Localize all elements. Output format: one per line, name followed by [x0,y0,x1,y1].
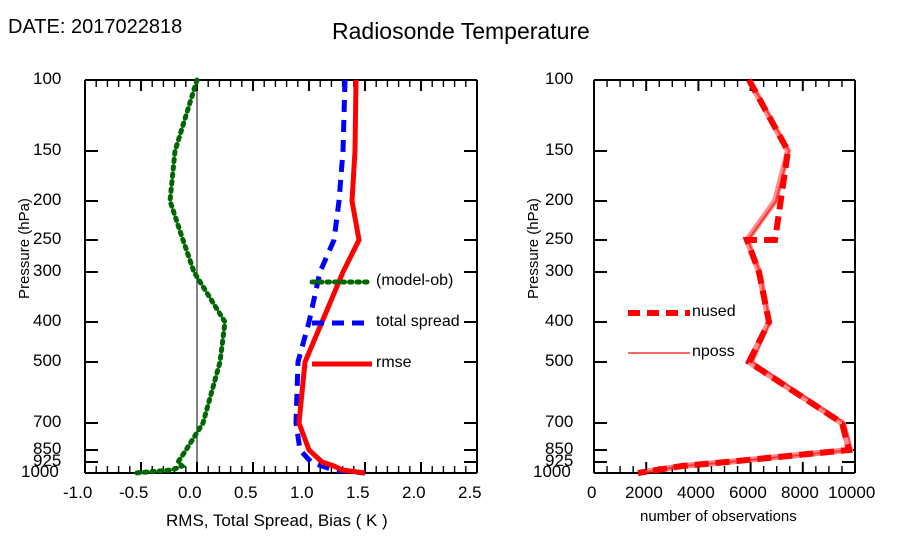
right-xaxis-title: number of observations [640,508,797,525]
left-xtick--0.5: -0.5 [119,483,148,503]
left-ytick-500: 500 [33,351,61,371]
left-ytick-700: 700 [33,412,61,432]
left-axis-title: Pressure (hPa) [16,198,33,299]
series-rmse [299,80,365,473]
right-panel [594,80,855,473]
legend-label-total-spread: total spread [376,313,460,331]
series-model-ob [135,80,225,473]
right-y-ticks [594,80,855,473]
legend-label-nused: nused [692,303,736,321]
right-xtick-6000: 6000 [729,483,767,503]
left-ytick-150: 150 [33,140,61,160]
right-xtick-8000: 8000 [781,483,819,503]
plot-canvas: DATE: 2017022818 Radiosonde Temperature [0,0,900,560]
legend-label-nposs: nposs [692,343,735,361]
left-panel-legend [312,282,372,364]
right-ytick-1000: 1000 [533,462,571,482]
left-xtick-2.0: 2.0 [402,483,426,503]
left-ytick-250: 250 [33,229,61,249]
right-ytick-100: 100 [545,69,573,89]
left-xtick-2.5: 2.5 [458,483,482,503]
series-nused-base [638,80,849,473]
right-ytick-200: 200 [545,190,573,210]
left-ytick-400: 400 [33,311,61,331]
series-nposs [638,80,852,473]
left-ytick-300: 300 [33,261,61,281]
right-ytick-300: 300 [545,261,573,281]
right-ytick-250: 250 [545,229,573,249]
left-xtick-1.0: 1.0 [290,483,314,503]
right-x-minor-ticks [607,80,842,473]
right-x-major-ticks [594,80,855,473]
right-axis-title: Pressure (hPa) [525,198,542,299]
legend-label-model-ob: (model-ob) [376,272,453,290]
right-ytick-700: 700 [545,412,573,432]
right-xtick-0: 0 [587,483,596,503]
left-ytick-100: 100 [33,69,61,89]
left-xtick-0.0: 0.0 [178,483,202,503]
right-ytick-500: 500 [545,351,573,371]
left-ytick-200: 200 [33,190,61,210]
right-panel-legend [628,313,690,353]
left-ytick-1000: 1000 [21,462,59,482]
right-xtick-4000: 4000 [677,483,715,503]
left-xtick-0.5: 0.5 [234,483,258,503]
right-ytick-150: 150 [545,140,573,160]
right-ytick-400: 400 [545,311,573,331]
left-xtick-1.5: 1.5 [346,483,370,503]
right-panel-frame [594,80,855,473]
legend-label-rmse: rmse [376,354,412,372]
left-xtick--1.0: -1.0 [63,483,92,503]
left-xaxis-title: RMS, Total Spread, Bias ( K ) [166,511,388,531]
right-xtick-10000: 10000 [828,483,875,503]
right-xtick-2000: 2000 [625,483,663,503]
series-nused [638,80,849,473]
